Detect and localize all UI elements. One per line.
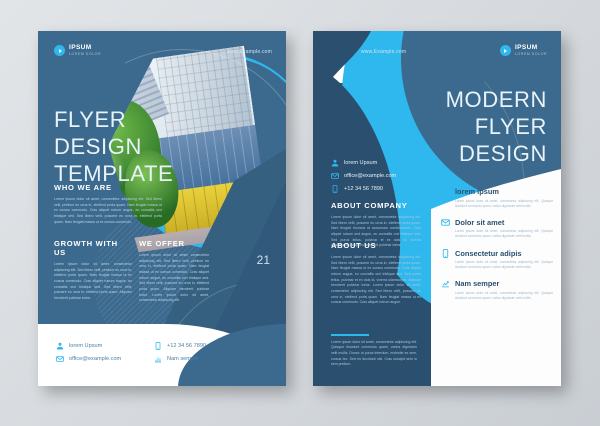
feature-body: Lorem ipsum dolor sit amet, consectetur …: [455, 229, 553, 239]
feature-body: Lorem ipsum dolor sit amet, consectetur …: [455, 199, 553, 209]
contact-text: lorem Upsum: [69, 343, 102, 349]
website-url[interactable]: www.Example.com: [361, 49, 406, 55]
feature-title: lorem ipsum: [455, 187, 499, 196]
brand-name: IPSUM: [69, 45, 101, 52]
chart-icon: [154, 355, 162, 363]
section-body: Lorem ipsum dolor sit amet, consectetur …: [54, 262, 132, 302]
phone-icon: [154, 342, 162, 350]
brand-logo[interactable]: IPSUM LOREM DOLOR: [54, 45, 101, 56]
person-icon: [441, 187, 450, 196]
feature-list: lorem ipsum Lorem ipsum dolor sit amet, …: [441, 187, 553, 310]
contact-item[interactable]: lorem Upsum: [331, 159, 396, 167]
bottom-note: Lorem ipsum dolor sit amet, consectetur …: [331, 334, 417, 368]
section-we-offer: WE OFFER Lorem ipsum dolor sit amet, con…: [139, 239, 209, 304]
brand-tagline: LOREM DOLOR: [515, 53, 547, 57]
flyer-page-back[interactable]: www.Example.com IPSUM LOREM DOLOR MODERN…: [313, 31, 561, 386]
page-title: FLYER DESIGN TEMPLATE: [54, 107, 173, 187]
page-title-line: FLYER: [446, 114, 547, 141]
phone-icon: [331, 185, 339, 193]
contact-text: Nam semper: [167, 356, 199, 362]
section-body: Lorem ipsum dolor sit amet, consectetur …: [54, 197, 162, 225]
page-title-line: DESIGN: [54, 134, 173, 161]
mail-icon: [56, 355, 64, 363]
contact-item[interactable]: Nam semper: [154, 355, 206, 363]
section-heading: WHO WE ARE: [54, 183, 162, 192]
contact-list: lorem Upsum office@example.com +12 34 56…: [331, 159, 396, 198]
feature-item[interactable]: Dolor sit amet Lorem ipsum dolor sit ame…: [441, 218, 553, 240]
section-who-we-are: WHO WE ARE Lorem ipsum dolor sit amet, c…: [54, 183, 162, 225]
page-title: MODERN FLYER DESIGN: [446, 87, 547, 167]
feature-body: Lorem ipsum dolor sit amet, consectetur …: [455, 291, 553, 301]
website-url[interactable]: www.Example.com: [227, 49, 272, 55]
feature-item[interactable]: Nam semper Lorem ipsum dolor sit amet, c…: [441, 279, 553, 301]
section-about-us: ABOUT US Lorem ipsum dolor sit amet, con…: [331, 241, 421, 306]
footer-panel: lorem Upsum office@example.com +12 34 56…: [38, 324, 286, 386]
contact-text: office@example.com: [344, 173, 396, 179]
contact-item[interactable]: +12 34 56 7890: [154, 342, 206, 350]
contact-text: office@example.com: [69, 356, 121, 362]
section-heading: ABOUT COMPANY: [331, 201, 421, 210]
flyer-page-front[interactable]: IPSUM LOREM DOLOR www.Example.com FLYER …: [38, 31, 286, 386]
section-body: Lorem ipsum dolor sit amet, consectetur …: [139, 253, 209, 304]
section-growth-with-us: GROWTH WITH US Lorem ipsum dolor sit ame…: [54, 239, 132, 302]
flyer-mockup-canvas: IPSUM LOREM DOLOR www.Example.com FLYER …: [0, 0, 600, 426]
contact-text: lorem Upsum: [344, 160, 377, 166]
section-heading: ABOUT US: [331, 241, 421, 250]
chart-icon: [441, 279, 450, 288]
mail-icon: [331, 172, 339, 180]
feature-body: Lorem ipsum dolor sit amet, consectetur …: [455, 260, 553, 270]
contact-item[interactable]: +12 34 56 7890: [331, 185, 396, 193]
brand-name: IPSUM: [515, 45, 547, 52]
play-circle-icon: [54, 45, 65, 56]
page-title-line: MODERN: [446, 87, 547, 114]
feature-title: Nam semper: [455, 279, 499, 288]
contact-text: +12 34 56 7890: [344, 186, 383, 192]
brand-logo-text: IPSUM LOREM DOLOR: [69, 45, 101, 56]
person-icon: [56, 342, 64, 350]
person-icon: [331, 159, 339, 167]
feature-title: Consectetur adipis: [455, 249, 522, 258]
feature-title: Dolor sit amet: [455, 218, 504, 227]
page-title-line: FLYER: [54, 107, 173, 134]
feature-item[interactable]: Consectetur adipis Lorem ipsum dolor sit…: [441, 249, 553, 271]
contact-item[interactable]: lorem Upsum: [56, 342, 121, 350]
contact-item[interactable]: office@example.com: [331, 172, 396, 180]
accent-bar: [331, 334, 369, 336]
play-circle-icon: [500, 45, 511, 56]
section-heading: WE OFFER: [139, 239, 209, 248]
feature-item[interactable]: lorem ipsum Lorem ipsum dolor sit amet, …: [441, 187, 553, 209]
brand-logo-text: IPSUM LOREM DOLOR: [515, 45, 547, 56]
bottom-note-text: Lorem ipsum dolor sit amet, consectetur …: [331, 340, 417, 368]
phone-icon: [441, 249, 450, 258]
contact-text: +12 34 56 7890: [167, 343, 206, 349]
page-title-line: DESIGN: [446, 141, 547, 168]
section-heading: GROWTH WITH US: [54, 239, 132, 257]
brand-tagline: LOREM DOLOR: [69, 53, 101, 57]
section-body: Lorem ipsum dolor sit amet, consectetur …: [331, 255, 421, 306]
brand-logo[interactable]: IPSUM LOREM DOLOR: [500, 45, 547, 56]
page-number: 21: [257, 253, 270, 267]
contact-item[interactable]: office@example.com: [56, 355, 121, 363]
mail-icon: [441, 218, 450, 227]
